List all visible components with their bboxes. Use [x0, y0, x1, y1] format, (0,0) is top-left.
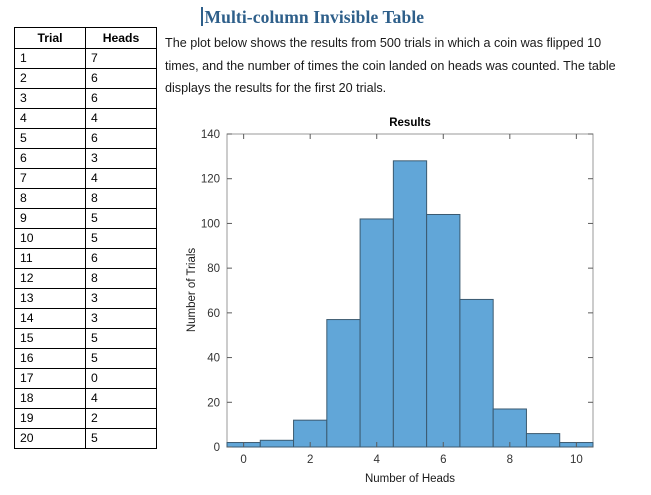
histogram-svg: Results 0246810 020406080100120140 Numbe… — [185, 112, 615, 492]
histogram-bar — [460, 299, 493, 447]
cell-heads: 3 — [86, 289, 157, 309]
histogram-bar — [393, 161, 426, 447]
table-row: 26 — [15, 69, 157, 89]
cell-heads: 6 — [86, 129, 157, 149]
page-title-line: Multi-column Invisible Table — [165, 6, 637, 32]
cell-heads: 0 — [86, 369, 157, 389]
table-row: 95 — [15, 209, 157, 229]
cell-trial: 5 — [15, 129, 86, 149]
table-row: 116 — [15, 249, 157, 269]
cell-trial: 19 — [15, 409, 86, 429]
y-tick-label: 120 — [201, 174, 220, 186]
y-tick-label: 0 — [214, 442, 220, 454]
histogram-figure: Results 0246810 020406080100120140 Numbe… — [185, 112, 615, 492]
trials-table: Trial Heads 1726364456637488951051161281… — [14, 27, 157, 449]
cell-trial: 11 — [15, 249, 86, 269]
table-row: 128 — [15, 269, 157, 289]
table-row: 143 — [15, 309, 157, 329]
page-canvas: Trial Heads 1726364456637488951051161281… — [0, 0, 651, 495]
cell-heads: 4 — [86, 389, 157, 409]
y-tick-label: 100 — [201, 218, 220, 230]
text-cursor-caret — [201, 7, 203, 26]
cell-trial: 15 — [15, 329, 86, 349]
cell-heads: 5 — [86, 229, 157, 249]
cell-heads: 3 — [86, 309, 157, 329]
y-tick-label: 140 — [201, 129, 220, 141]
x-axis-label: Number of Heads — [365, 473, 455, 485]
cell-heads: 8 — [86, 189, 157, 209]
cell-heads: 5 — [86, 429, 157, 449]
cell-heads: 6 — [86, 249, 157, 269]
table-body: 1726364456637488951051161281331431551651… — [15, 49, 157, 449]
x-tick-label: 4 — [374, 454, 381, 466]
intro-paragraph: The plot below shows the results from 50… — [165, 32, 635, 100]
table-row: 133 — [15, 289, 157, 309]
cell-heads: 7 — [86, 49, 157, 69]
cell-trial: 8 — [15, 189, 86, 209]
cell-trial: 18 — [15, 389, 86, 409]
table-row: 36 — [15, 89, 157, 109]
table-row: 192 — [15, 409, 157, 429]
table-header-row: Trial Heads — [15, 28, 157, 49]
y-tick-label: 80 — [207, 263, 220, 275]
table-row: 88 — [15, 189, 157, 209]
table-row: 205 — [15, 429, 157, 449]
cell-trial: 6 — [15, 149, 86, 169]
cell-heads: 2 — [86, 409, 157, 429]
cell-heads: 5 — [86, 329, 157, 349]
histogram-bar — [526, 434, 559, 447]
histogram-bar — [493, 409, 526, 447]
bars-group — [227, 161, 593, 447]
cell-heads: 6 — [86, 69, 157, 89]
y-tick-label: 40 — [207, 353, 220, 365]
cell-trial: 17 — [15, 369, 86, 389]
cell-trial: 3 — [15, 89, 86, 109]
table-row: 63 — [15, 149, 157, 169]
table-row: 184 — [15, 389, 157, 409]
cell-heads: 5 — [86, 349, 157, 369]
histogram-bar — [260, 440, 293, 447]
table-row: 165 — [15, 349, 157, 369]
cell-heads: 6 — [86, 89, 157, 109]
cell-trial: 12 — [15, 269, 86, 289]
table-header-heads: Heads — [86, 28, 157, 49]
histogram-bar — [427, 214, 460, 447]
table-header-trial: Trial — [15, 28, 86, 49]
cell-trial: 7 — [15, 169, 86, 189]
cell-heads: 8 — [86, 269, 157, 289]
cell-trial: 20 — [15, 429, 86, 449]
table-row: 44 — [15, 109, 157, 129]
x-tick-label: 2 — [307, 454, 313, 466]
x-tick-label: 6 — [440, 454, 446, 466]
page-title: Multi-column Invisible Table — [201, 6, 424, 29]
y-axis-label: Number of Trials — [186, 248, 198, 333]
table-row: 17 — [15, 49, 157, 69]
page-title-text: Multi-column Invisible Table — [205, 7, 425, 27]
histogram-bar — [327, 320, 360, 447]
x-tick-label: 8 — [507, 454, 513, 466]
cell-trial: 4 — [15, 109, 86, 129]
y-tick-label: 20 — [207, 397, 220, 409]
cell-trial: 9 — [15, 209, 86, 229]
x-tick-label: 10 — [570, 454, 583, 466]
cell-trial: 16 — [15, 349, 86, 369]
cell-heads: 4 — [86, 169, 157, 189]
content-column: Multi-column Invisible Table The plot be… — [165, 6, 637, 100]
trials-table-container: Trial Heads 1726364456637488951051161281… — [14, 27, 156, 449]
cell-heads: 4 — [86, 109, 157, 129]
cell-trial: 13 — [15, 289, 86, 309]
cell-trial: 1 — [15, 49, 86, 69]
table-row: 56 — [15, 129, 157, 149]
y-tick-label: 60 — [207, 308, 220, 320]
table-row: 170 — [15, 369, 157, 389]
chart-title: Results — [389, 117, 431, 129]
cell-heads: 5 — [86, 209, 157, 229]
cell-trial: 2 — [15, 69, 86, 89]
table-row: 105 — [15, 229, 157, 249]
histogram-bar — [360, 219, 393, 447]
table-row: 74 — [15, 169, 157, 189]
cell-trial: 10 — [15, 229, 86, 249]
x-tick-label: 0 — [240, 454, 246, 466]
table-row: 155 — [15, 329, 157, 349]
cell-heads: 3 — [86, 149, 157, 169]
cell-trial: 14 — [15, 309, 86, 329]
